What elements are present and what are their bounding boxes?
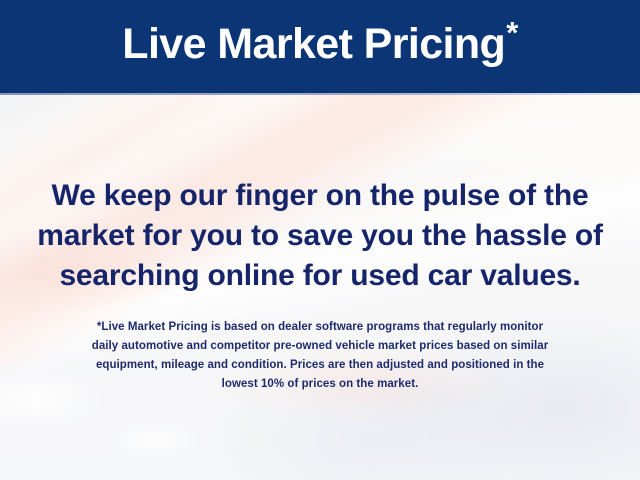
disclaimer-line-2: daily automotive and competitor pre-owne… — [0, 337, 640, 356]
header-banner: Live Market Pricing* — [0, 0, 640, 93]
live-market-pricing-promo: Live Market Pricing* We keep our finger … — [0, 0, 640, 480]
banner-underline-divider — [0, 93, 640, 95]
disclaimer-line-4: lowest 10% of prices on the market. — [0, 375, 640, 394]
headline-line-3: searching online for used car values. — [0, 256, 640, 296]
banner-title: Live Market Pricing* — [122, 23, 517, 66]
headline-block: We keep our finger on the pulse of the m… — [0, 176, 640, 296]
disclaimer-line-1: *Live Market Pricing is based on dealer … — [0, 318, 640, 337]
banner-title-text: Live Market Pricing — [122, 20, 505, 68]
headline-line-1: We keep our finger on the pulse of the — [0, 176, 640, 216]
disclaimer-block: *Live Market Pricing is based on dealer … — [0, 318, 640, 394]
banner-title-asterisk: * — [506, 15, 517, 50]
headline-line-2: market for you to save you the hassle of — [0, 216, 640, 256]
disclaimer-line-3: equipment, mileage and condition. Prices… — [0, 356, 640, 375]
